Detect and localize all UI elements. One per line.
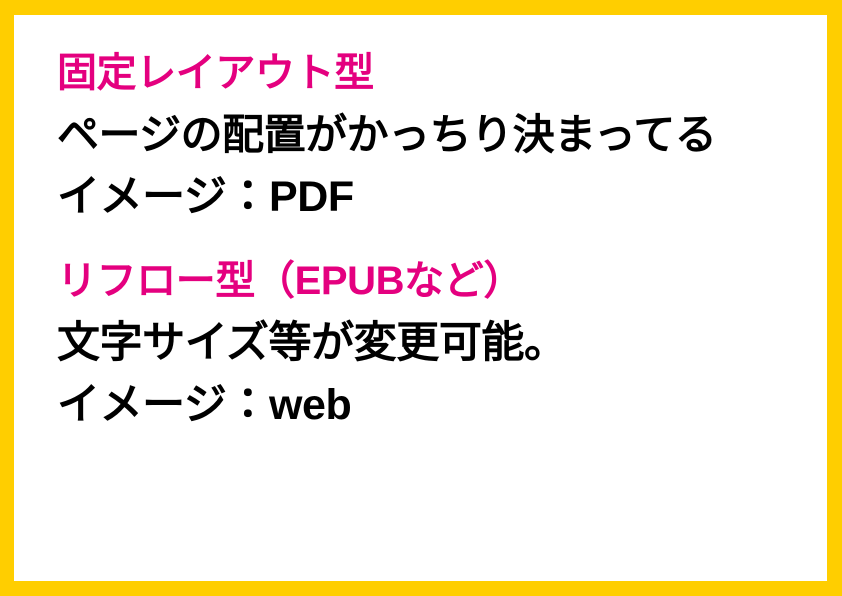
content-block-fixed-layout: 固定レイアウト型 ページの配置がかっちり決まってる イメージ：PDF: [57, 42, 716, 228]
example-fixed-layout: イメージ：PDF: [57, 166, 716, 228]
slide-frame: 固定レイアウト型 ページの配置がかっちり決まってる イメージ：PDF リフロー型…: [0, 0, 842, 596]
example-reflow: イメージ：web: [57, 374, 567, 436]
description-reflow: 文字サイズ等が変更可能。: [57, 312, 567, 374]
heading-reflow: リフロー型（EPUBなど）: [57, 250, 567, 312]
description-fixed-layout: ページの配置がかっちり決まってる: [57, 104, 716, 166]
content-block-reflow: リフロー型（EPUBなど） 文字サイズ等が変更可能。 イメージ：web: [57, 250, 567, 436]
slide-content-area: 固定レイアウト型 ページの配置がかっちり決まってる イメージ：PDF リフロー型…: [14, 15, 827, 581]
heading-fixed-layout: 固定レイアウト型: [57, 42, 716, 104]
